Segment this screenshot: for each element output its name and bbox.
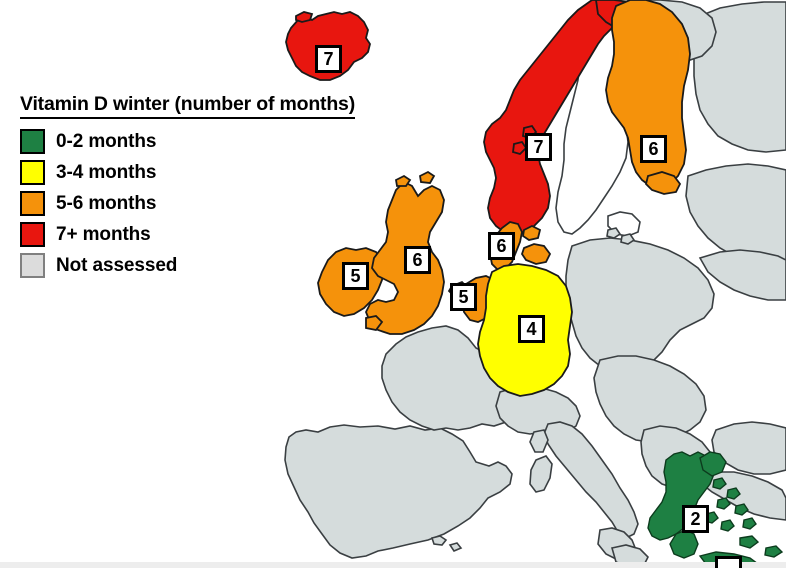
map-label-netherlands: 5 bbox=[450, 283, 477, 311]
legend-swatch-7-plus-months bbox=[20, 222, 45, 247]
legend-item-0-2-months: 0-2 months bbox=[20, 126, 355, 157]
map-label-denmark: 6 bbox=[488, 232, 515, 260]
legend-label-3-4-months: 3-4 months bbox=[56, 162, 156, 184]
legend-swatch-not-assessed bbox=[20, 253, 45, 278]
map-legend: Vitamin D winter (number of months) 0-2 … bbox=[20, 93, 355, 281]
map-label-finland: 6 bbox=[640, 135, 667, 163]
europe-map: .na { fill:#d5dcdc; stroke:#3a3f42; stro… bbox=[0, 0, 786, 568]
map-label-iceland: 7 bbox=[315, 45, 342, 73]
legend-label-not-assessed: Not assessed bbox=[56, 255, 177, 277]
legend-item-7-plus-months: 7+ months bbox=[20, 219, 355, 250]
map-label-greece: 2 bbox=[682, 505, 709, 533]
legend-title: Vitamin D winter (number of months) bbox=[20, 93, 355, 119]
map-label-germany: 4 bbox=[518, 315, 545, 343]
legend-rows: 0-2 months 3-4 months 5-6 months 7+ mont… bbox=[20, 126, 355, 281]
vitamin-d-winter-map: .na { fill:#d5dcdc; stroke:#3a3f42; stro… bbox=[0, 0, 786, 568]
map-label-crete bbox=[715, 556, 742, 568]
legend-item-3-4-months: 3-4 months bbox=[20, 157, 355, 188]
map-label-united-kingdom: 6 bbox=[404, 246, 431, 274]
legend-item-not-assessed: Not assessed bbox=[20, 250, 355, 281]
legend-label-0-2-months: 0-2 months bbox=[56, 131, 156, 153]
legend-swatch-5-6-months bbox=[20, 191, 45, 216]
legend-swatch-0-2-months bbox=[20, 129, 45, 154]
legend-item-5-6-months: 5-6 months bbox=[20, 188, 355, 219]
legend-swatch-3-4-months bbox=[20, 160, 45, 185]
map-label-norway: 7 bbox=[525, 133, 552, 161]
legend-label-5-6-months: 5-6 months bbox=[56, 193, 156, 215]
legend-label-7-plus-months: 7+ months bbox=[56, 224, 151, 246]
bottom-strip bbox=[0, 562, 786, 568]
